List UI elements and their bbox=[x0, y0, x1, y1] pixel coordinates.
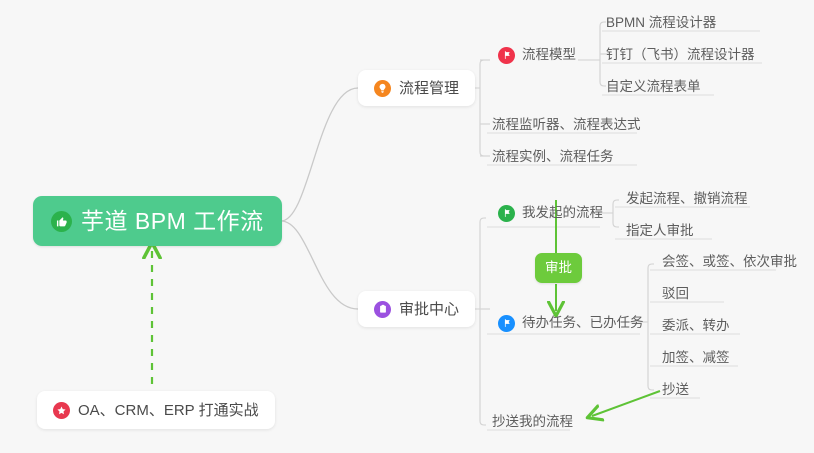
node-my-initiated-label: 我发起的流程 bbox=[522, 206, 603, 220]
node-instance-task[interactable]: 流程实例、流程任务 bbox=[486, 144, 620, 170]
root-label: 芋道 BPM 工作流 bbox=[81, 210, 264, 233]
footer-node[interactable]: OA、CRM、ERP 打通实战 bbox=[37, 391, 275, 429]
footer-node-label: OA、CRM、ERP 打通实战 bbox=[78, 403, 259, 418]
node-add-remove-sign[interactable]: 加签、减签 bbox=[656, 345, 736, 371]
node-add-remove-sign-label: 加签、减签 bbox=[662, 351, 730, 365]
branch-approval-center[interactable]: 审批中心 bbox=[358, 291, 475, 327]
branch-process-management-label: 流程管理 bbox=[399, 81, 459, 96]
branch-approval-center-label: 审批中心 bbox=[399, 302, 459, 317]
star-icon bbox=[53, 402, 70, 419]
root-node[interactable]: 芋道 BPM 工作流 bbox=[33, 196, 282, 246]
node-sign-modes-label: 会签、或签、依次审批 bbox=[662, 255, 797, 269]
node-todo-done[interactable]: 待办任务、已办任务 bbox=[492, 310, 650, 336]
node-cc-to-me[interactable]: 抄送我的流程 bbox=[486, 409, 579, 435]
tag-approval[interactable]: 审批 bbox=[535, 253, 582, 283]
mindmap-canvas: 芋道 BPM 工作流 流程管理 流程模型 BPMN 流程设计器 钉钉（飞书）流程… bbox=[0, 0, 814, 453]
branch-process-management[interactable]: 流程管理 bbox=[358, 70, 475, 106]
node-dingtalk-feishu-designer-label: 钉钉（飞书）流程设计器 bbox=[606, 48, 755, 62]
node-reject-label: 驳回 bbox=[662, 287, 689, 301]
node-delegate-transfer-label: 委派、转办 bbox=[662, 319, 730, 333]
node-my-initiated[interactable]: 我发起的流程 bbox=[492, 200, 609, 226]
node-listener-expression[interactable]: 流程监听器、流程表达式 bbox=[486, 112, 647, 138]
flag-icon bbox=[498, 205, 515, 222]
node-dingtalk-feishu-designer[interactable]: 钉钉（飞书）流程设计器 bbox=[600, 42, 761, 68]
node-start-cancel-label: 发起流程、撤销流程 bbox=[626, 192, 748, 206]
node-listener-expression-label: 流程监听器、流程表达式 bbox=[492, 118, 641, 132]
node-assignee-approval-label: 指定人审批 bbox=[626, 224, 694, 238]
node-sign-modes[interactable]: 会签、或签、依次审批 bbox=[656, 249, 803, 275]
lightbulb-icon bbox=[374, 80, 391, 97]
node-process-model[interactable]: 流程模型 bbox=[492, 42, 582, 68]
node-bpmn-designer[interactable]: BPMN 流程设计器 bbox=[600, 10, 722, 36]
node-todo-done-label: 待办任务、已办任务 bbox=[522, 316, 644, 330]
node-custom-process-form[interactable]: 自定义流程表单 bbox=[600, 74, 707, 100]
node-cc-label: 抄送 bbox=[662, 383, 689, 397]
node-bpmn-designer-label: BPMN 流程设计器 bbox=[606, 16, 716, 30]
thumbs-up-icon bbox=[51, 211, 72, 232]
flag-icon bbox=[498, 47, 515, 64]
flag-icon bbox=[498, 315, 515, 332]
clipboard-icon bbox=[374, 301, 391, 318]
node-assignee-approval[interactable]: 指定人审批 bbox=[620, 218, 700, 244]
node-cc[interactable]: 抄送 bbox=[656, 377, 695, 403]
node-cc-to-me-label: 抄送我的流程 bbox=[492, 415, 573, 429]
node-instance-task-label: 流程实例、流程任务 bbox=[492, 150, 614, 164]
node-custom-process-form-label: 自定义流程表单 bbox=[606, 80, 701, 94]
node-process-model-label: 流程模型 bbox=[522, 48, 576, 62]
node-start-cancel[interactable]: 发起流程、撤销流程 bbox=[620, 186, 754, 212]
tag-approval-label: 审批 bbox=[545, 261, 572, 275]
node-delegate-transfer[interactable]: 委派、转办 bbox=[656, 313, 736, 339]
node-reject[interactable]: 驳回 bbox=[656, 281, 695, 307]
